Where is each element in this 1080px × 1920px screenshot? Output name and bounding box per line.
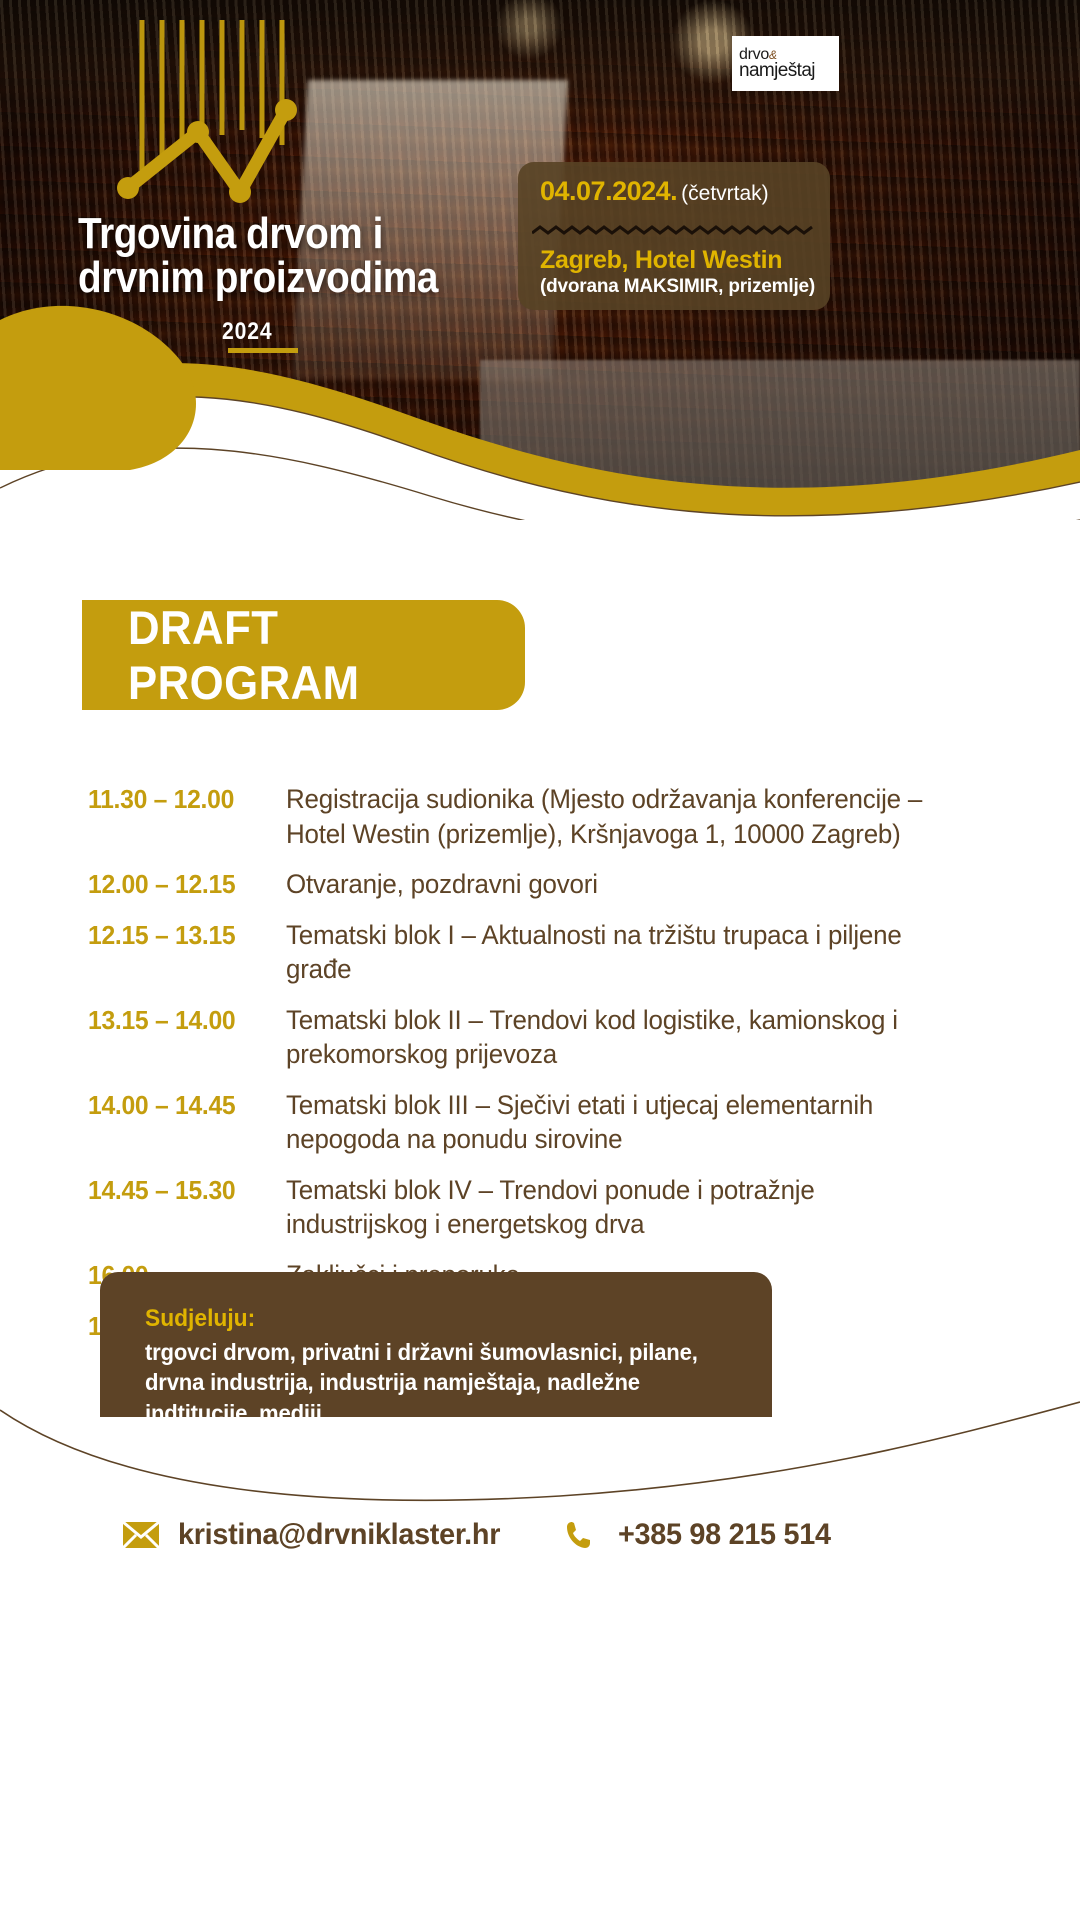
participants-box: Sudjeluju: trgovci drvom, privatni i drž…: [100, 1272, 772, 1417]
schedule-description: Registracija sudionika (Mjesto održavanj…: [286, 782, 960, 851]
schedule-time: 14.45 – 15.30: [88, 1173, 276, 1242]
program-heading-banner: DRAFT PROGRAM: [82, 600, 525, 710]
contact-phone[interactable]: +385 98 215 514: [562, 1518, 840, 1552]
participants-title: Sudjeluju:: [145, 1305, 714, 1333]
logo-word-namjestaj: namještaj: [739, 60, 815, 81]
schedule-description: Otvaranje, pozdravni govori: [286, 867, 960, 902]
phone-icon: [562, 1520, 600, 1550]
table-row: 14.00 – 14.45 Tematski blok III – Sječiv…: [88, 1088, 988, 1157]
schedule-description: Tematski blok II – Trendovi kod logistik…: [286, 1003, 960, 1072]
brand-logo: drvo& namještaj: [732, 36, 839, 91]
schedule-time: 11.30 – 12.00: [88, 782, 276, 851]
table-row: 13.15 – 14.00 Tematski blok II – Trendov…: [88, 1003, 988, 1072]
schedule-time: 12.00 – 12.15: [88, 867, 276, 902]
program-heading-text: DRAFT PROGRAM: [128, 600, 497, 710]
schedule-time: 14.00 – 14.45: [88, 1088, 276, 1157]
contact-email-text: kristina@drvniklaster.hr: [178, 1518, 500, 1552]
table-row: 12.00 – 12.15 Otvaranje, pozdravni govor…: [88, 867, 988, 902]
schedule-description: Tematski blok III – Sječivi etati i utje…: [286, 1088, 960, 1157]
wave-gold-blob: [0, 170, 1080, 470]
table-row: 12.15 – 13.15 Tematski blok I – Aktualno…: [88, 918, 988, 987]
schedule-time: 12.15 – 13.15: [88, 918, 276, 987]
schedule-description: Tematski blok I – Aktualnosti na tržištu…: [286, 918, 960, 987]
table-row: 11.30 – 12.00 Registracija sudionika (Mj…: [88, 782, 988, 851]
table-row: 14.45 – 15.30 Tematski blok IV – Trendov…: [88, 1173, 988, 1242]
footer-contacts: kristina@drvniklaster.hr +385 98 215 514: [0, 1490, 1080, 1580]
envelope-icon: [122, 1520, 160, 1550]
contact-email[interactable]: kristina@drvniklaster.hr: [122, 1518, 514, 1552]
logo-line-two: namještaj: [739, 62, 839, 80]
schedule-description: Tematski blok IV – Trendovi ponude i pot…: [286, 1173, 960, 1242]
contact-phone-text: +385 98 215 514: [618, 1518, 831, 1552]
schedule-time: 13.15 – 14.00: [88, 1003, 276, 1072]
poster-root: drvo& namještaj Trgovina drvom i drvnim …: [0, 0, 1080, 1920]
hero-section: drvo& namještaj Trgovina drvom i drvnim …: [0, 0, 1080, 520]
